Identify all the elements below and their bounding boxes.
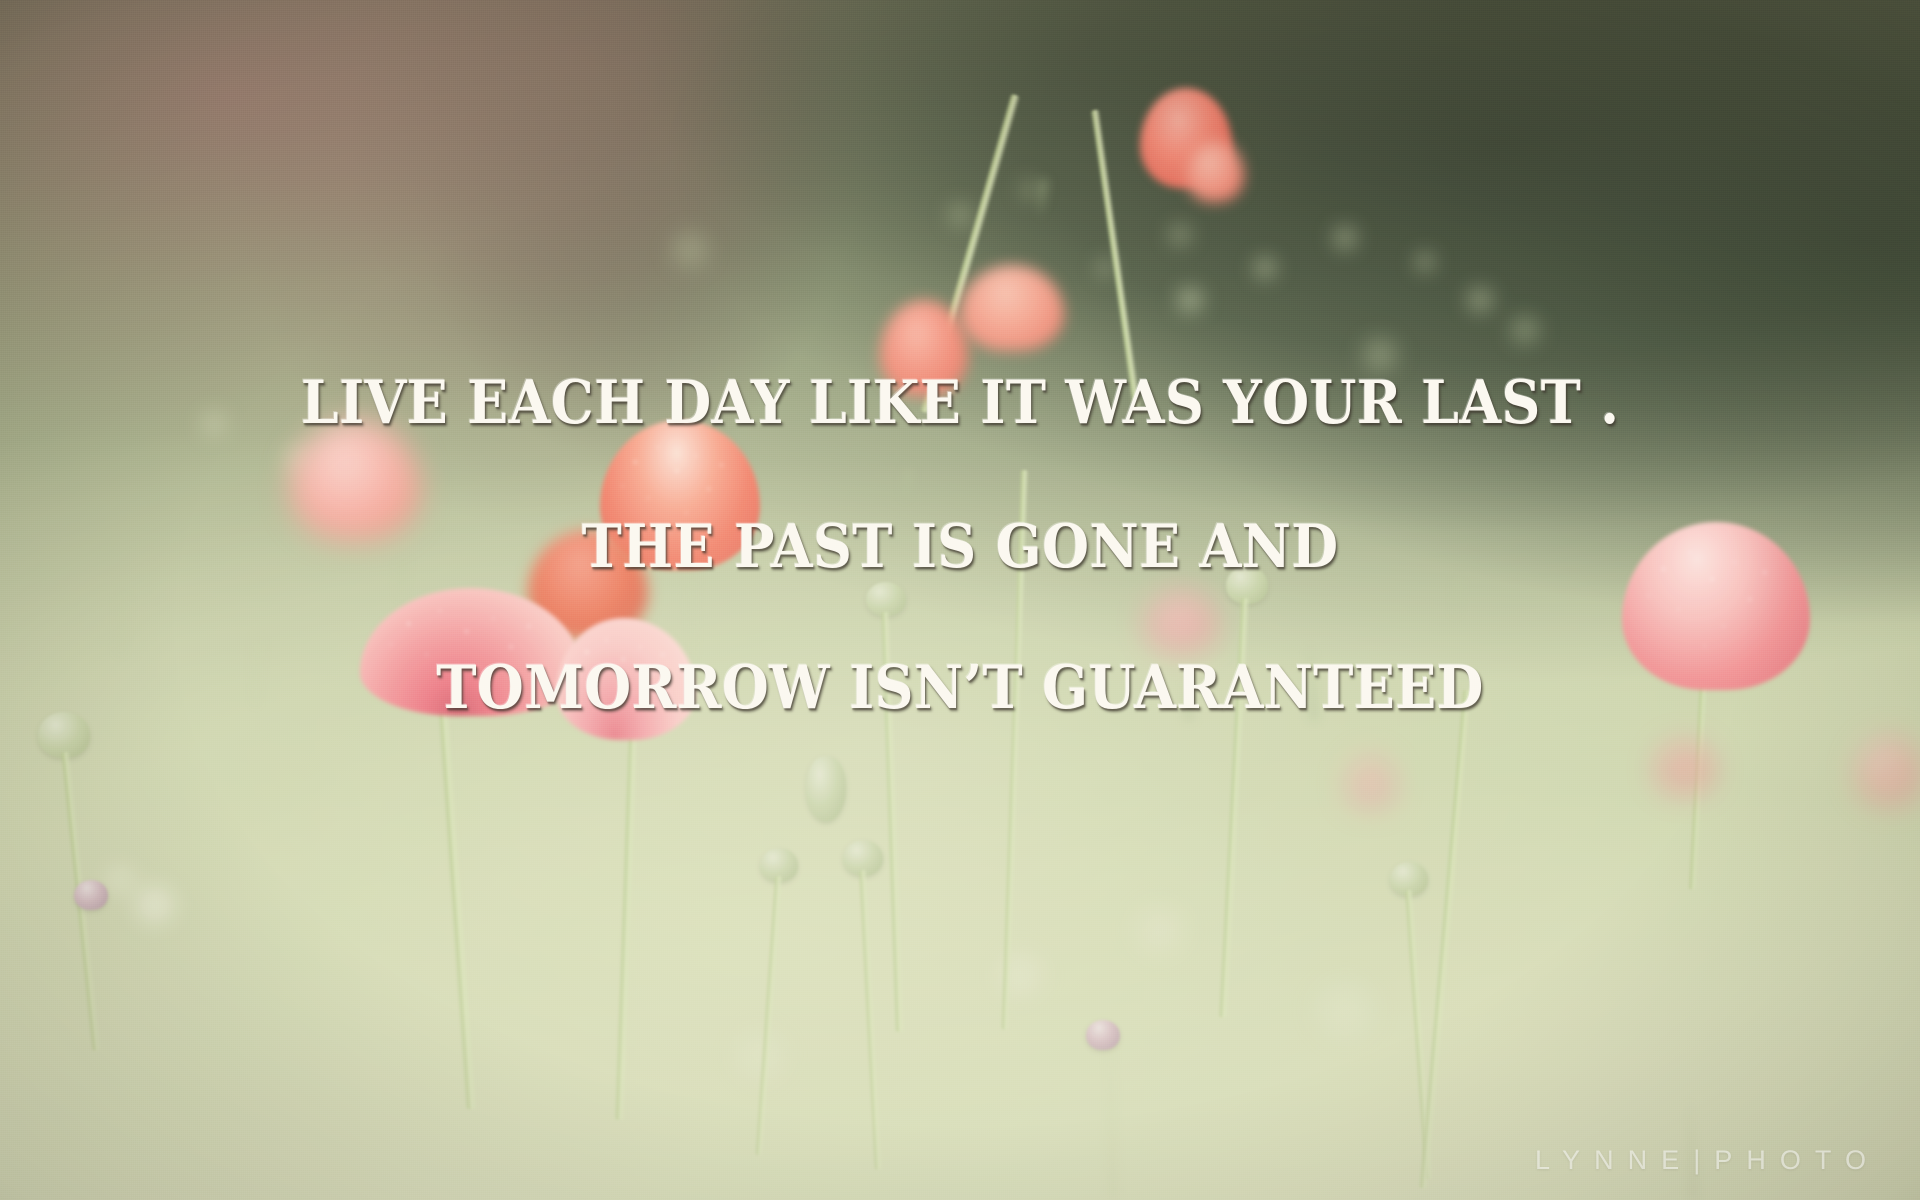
quote-line-3: TOMORROW ISN’T GUARANTEED <box>96 653 1824 723</box>
quote-line-2: THE PAST IS GONE AND <box>96 512 1824 582</box>
quote-photo-canvas: LIVE EACH DAY LIKE IT WAS YOUR LAST . TH… <box>0 0 1920 1200</box>
photographer-watermark: LYNNE|PHOTO <box>1535 1145 1880 1176</box>
quote-line-1: LIVE EACH DAY LIKE IT WAS YOUR LAST . <box>96 368 1824 438</box>
quote-overlay: LIVE EACH DAY LIKE IT WAS YOUR LAST . TH… <box>0 0 1920 1200</box>
